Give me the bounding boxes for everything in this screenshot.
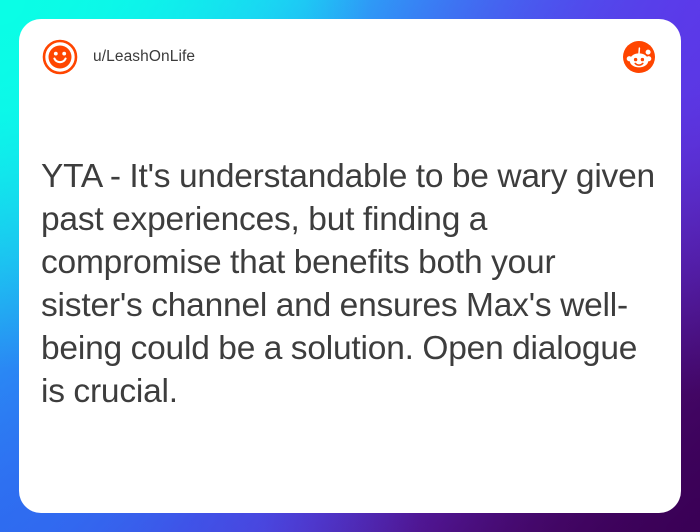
comment-header: u/LeashOnLife [19, 19, 681, 95]
gradient-background: u/LeashOnLife YTA - It's understandable … [0, 0, 700, 532]
reddit-comment-card: u/LeashOnLife YTA - It's understandable … [19, 19, 681, 513]
smiley-face-avatar-icon[interactable] [41, 38, 79, 76]
reddit-snoo-logo-icon[interactable] [623, 41, 655, 73]
username-label: u/LeashOnLife [93, 48, 195, 66]
comment-text: YTA - It's understandable to be wary giv… [41, 155, 655, 413]
